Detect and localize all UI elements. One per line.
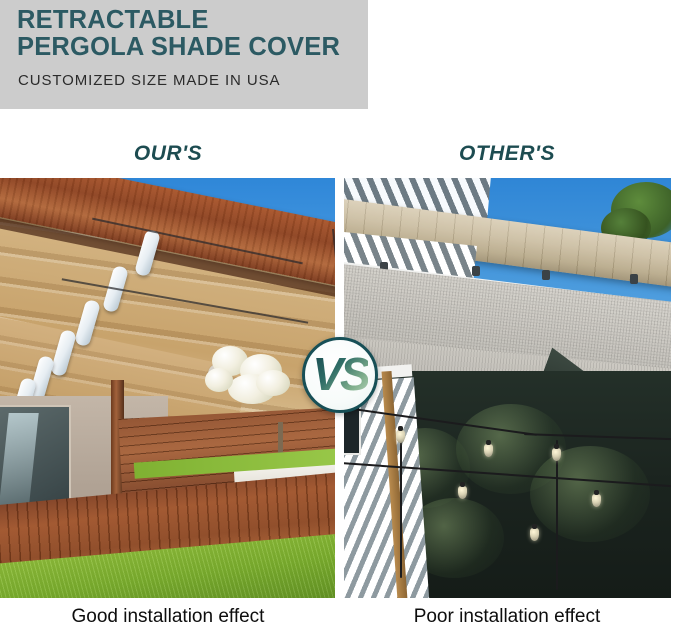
column-label-others: OTHER'S [344,142,670,166]
vs-badge: VS [302,337,378,413]
fabric-hook [542,270,550,280]
header-banner: RETRACTABLE PERGOLA SHADE COVER CUSTOMIZ… [0,0,368,109]
vs-badge-label: VS [312,351,367,397]
light-bulb [458,486,467,499]
page-title: RETRACTABLE PERGOLA SHADE COVER [17,7,362,61]
flower-cluster [256,370,290,396]
light-bulb [484,444,493,457]
light-drop-wire [556,440,558,590]
light-bulb [592,494,601,507]
light-bulb [396,430,405,443]
caption-good-installation: Good installation effect [0,606,336,628]
light-bulb [530,528,539,541]
caption-poor-installation: Poor installation effect [344,606,670,628]
fabric-hook [630,274,638,284]
column-label-ours: OUR'S [0,142,336,166]
header-subtitle: CUSTOMIZED SIZE MADE IN USA [18,72,280,90]
light-drop-wire [400,428,402,578]
product-comparison-image: RETRACTABLE PERGOLA SHADE COVER CUSTOMIZ… [0,0,679,635]
background-foliage [530,446,650,542]
flower-cluster [205,368,233,392]
fabric-hook [472,266,480,276]
photo-others-poor-installation [344,178,671,598]
photo-ours-good-installation [0,178,335,598]
light-bulb [552,448,561,461]
